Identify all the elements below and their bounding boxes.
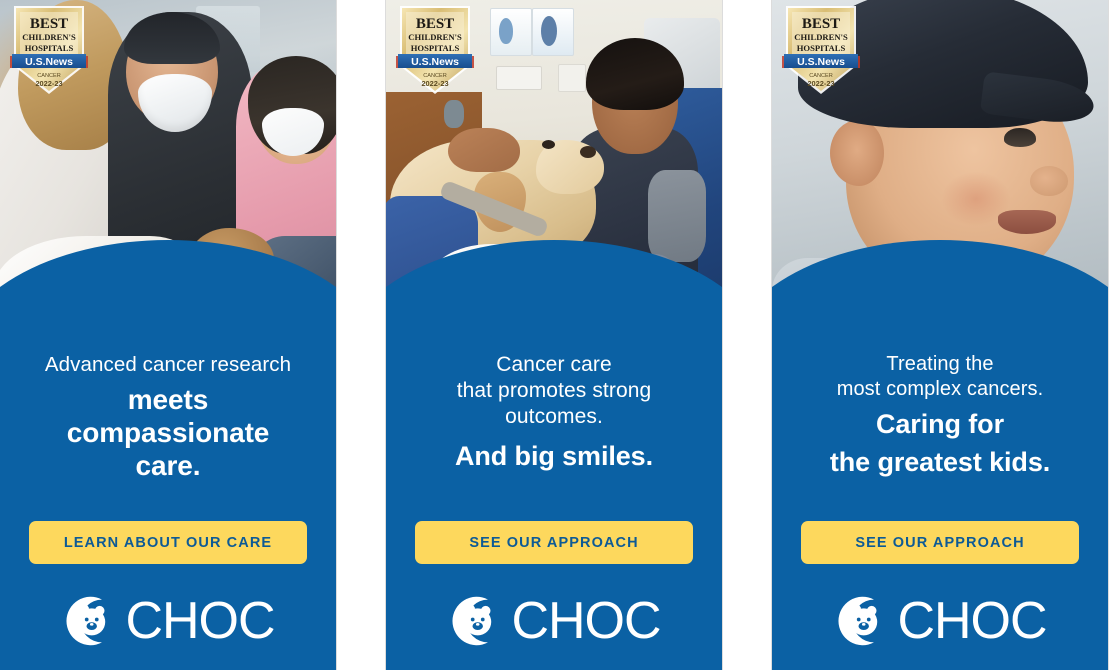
card-headline: Treating the most complex cancers. Carin… [786, 352, 1094, 479]
learn-about-our-care-button[interactable]: LEARN ABOUT OUR CARE [29, 521, 307, 564]
headline-bold-line-1: And big smiles. [402, 440, 706, 473]
see-our-approach-button[interactable]: SEE OUR APPROACH [801, 521, 1079, 564]
choc-logo[interactable]: CHOC [386, 594, 722, 648]
cta-container: SEE OUR APPROACH [772, 521, 1108, 564]
headline-light-line-2: most complex cancers. [788, 377, 1092, 402]
choc-wordmark: CHOC [125, 595, 274, 647]
ad-banner-row: BEST CHILDREN'S HOSPITALS U.S.News CANCE… [0, 0, 1110, 670]
svg-text:CHILDREN'S: CHILDREN'S [794, 32, 848, 42]
choc-logo[interactable]: CHOC [772, 594, 1108, 648]
card-gap-2 [722, 0, 772, 670]
ad-card-advanced-cancer-research[interactable]: BEST CHILDREN'S HOSPITALS U.S.News CANCE… [0, 0, 336, 670]
svg-text:BEST: BEST [30, 16, 68, 32]
svg-text:HOSPITALS: HOSPITALS [797, 43, 846, 53]
ad-card-cancer-care-outcomes[interactable]: BEST CHILDREN'S HOSPITALS U.S.News CANCE… [386, 0, 722, 670]
headline-bold-line-1: meets [16, 383, 320, 416]
ad-card-treating-complex-cancers[interactable]: BEST CHILDREN'S HOSPITALS U.S.News CANCE… [772, 0, 1108, 670]
svg-text:BEST: BEST [416, 16, 454, 32]
card-gap-1 [336, 0, 386, 670]
headline-bold-line-2: the greatest kids. [788, 446, 1092, 479]
choc-wordmark: CHOC [897, 595, 1046, 647]
svg-text:HOSPITALS: HOSPITALS [411, 43, 460, 53]
card-headline: Cancer care that promotes strong outcome… [400, 352, 708, 473]
headline-light-line: Advanced cancer research [16, 352, 320, 377]
svg-text:U.S.News: U.S.News [411, 56, 459, 68]
svg-text:HOSPITALS: HOSPITALS [25, 43, 74, 53]
headline-light-line-1: Treating the [788, 352, 1092, 377]
svg-text:2022-23: 2022-23 [421, 79, 448, 88]
svg-text:2022-23: 2022-23 [807, 79, 834, 88]
svg-text:2022-23: 2022-23 [35, 79, 62, 88]
headline-bold-line-1: Caring for [788, 408, 1092, 441]
card-headline: Advanced cancer research meets compassio… [14, 352, 322, 483]
choc-moon-bear-icon [447, 594, 501, 648]
choc-moon-bear-icon [61, 594, 115, 648]
svg-text:BEST: BEST [802, 16, 840, 32]
headline-light-line-3: outcomes. [402, 404, 706, 430]
cta-container: LEARN ABOUT OUR CARE [0, 521, 336, 564]
svg-text:CHILDREN'S: CHILDREN'S [22, 32, 76, 42]
headline-bold-line-2: compassionate [16, 416, 320, 449]
headline-light-line-2: that promotes strong [402, 378, 706, 404]
headline-light-line-1: Cancer care [402, 352, 706, 378]
us-news-badge: BEST CHILDREN'S HOSPITALS U.S.News CANCE… [10, 4, 88, 96]
us-news-badge: BEST CHILDREN'S HOSPITALS U.S.News CANCE… [782, 4, 860, 96]
choc-wordmark: CHOC [511, 595, 660, 647]
headline-bold-line-3: care. [16, 449, 320, 482]
svg-text:U.S.News: U.S.News [797, 56, 845, 68]
choc-logo[interactable]: CHOC [0, 594, 336, 648]
svg-text:U.S.News: U.S.News [25, 56, 73, 68]
cta-container: SEE OUR APPROACH [386, 521, 722, 564]
choc-moon-bear-icon [833, 594, 887, 648]
us-news-badge: BEST CHILDREN'S HOSPITALS U.S.News CANCE… [396, 4, 474, 96]
see-our-approach-button[interactable]: SEE OUR APPROACH [415, 521, 693, 564]
svg-text:CHILDREN'S: CHILDREN'S [408, 32, 462, 42]
